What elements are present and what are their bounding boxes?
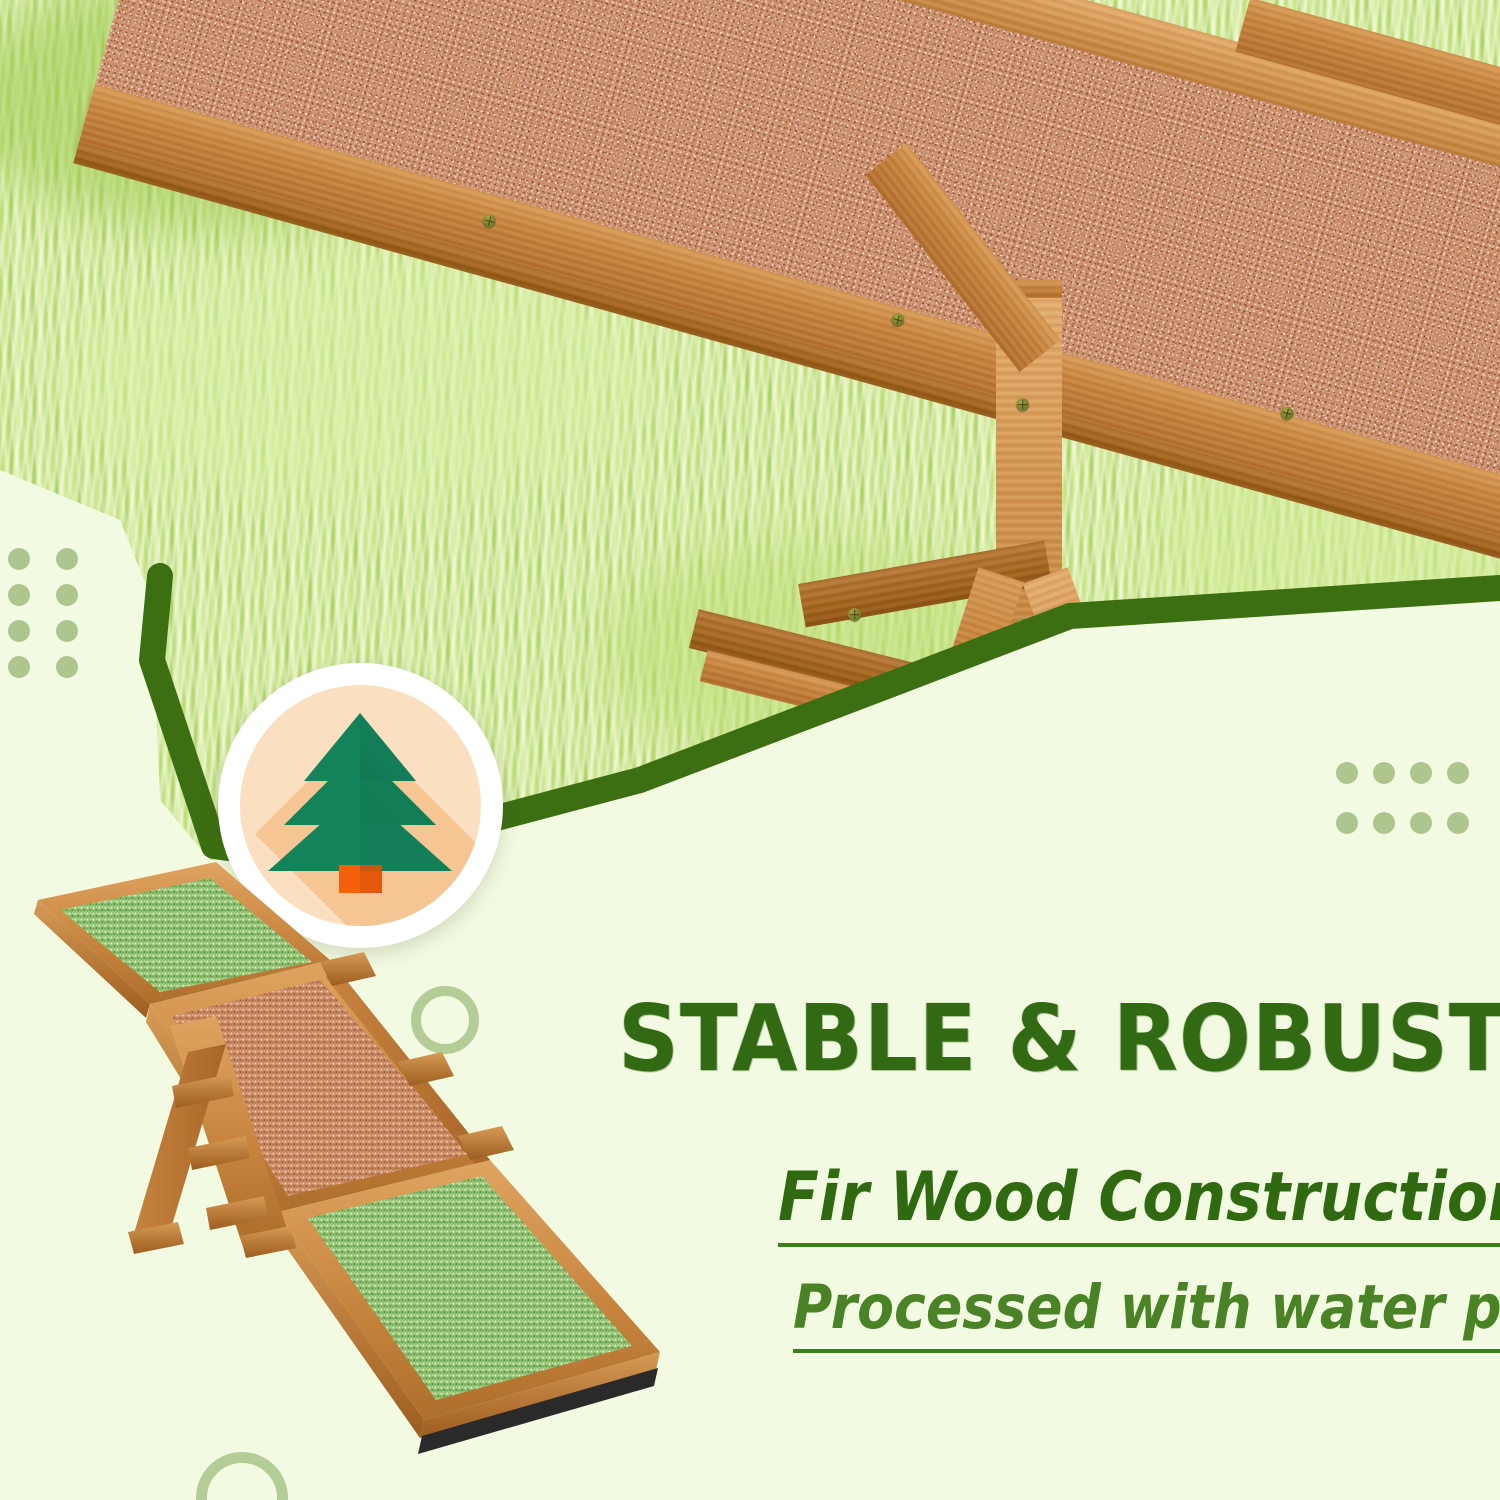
- decor-dot: [1410, 812, 1432, 834]
- dot-grid-left: [8, 548, 104, 692]
- decor-dot: [1336, 762, 1358, 784]
- subline-2: Processed with water paint: [793, 1272, 1500, 1343]
- decor-dot: [56, 548, 78, 570]
- page-title: STABLE & ROBUST: [618, 985, 1391, 1092]
- decor-dot: [8, 620, 30, 642]
- pet-ramp-product-render: [20, 840, 680, 1460]
- decor-dot: [1447, 812, 1469, 834]
- decor-dot: [56, 584, 78, 606]
- subline-1-underline: Fir Wood Construction: [778, 1158, 1500, 1247]
- decor-dot: [8, 656, 30, 678]
- subline-1: Fir Wood Construction: [778, 1158, 1500, 1237]
- support-foot-right: [1023, 567, 1130, 753]
- subline-2-underline: Processed with water paint: [793, 1272, 1500, 1353]
- decor-dot: [8, 584, 30, 606]
- ramp-support-structure: [760, 270, 1220, 790]
- decor-dot: [1373, 812, 1395, 834]
- marketing-banner: STABLE & ROBUST Fir Wood Construction Pr…: [0, 0, 1500, 1500]
- decor-dot: [8, 548, 30, 570]
- decor-dot: [56, 620, 78, 642]
- screw-icon: [1016, 618, 1029, 631]
- decor-dot: [1373, 762, 1395, 784]
- dot-grid-right: [1336, 762, 1484, 862]
- screw-icon: [1016, 398, 1029, 411]
- screw-icon: [848, 608, 861, 621]
- decor-dot: [1447, 762, 1469, 784]
- decor-dot: [1336, 812, 1358, 834]
- decor-dot: [1410, 762, 1432, 784]
- decor-dot: [56, 656, 78, 678]
